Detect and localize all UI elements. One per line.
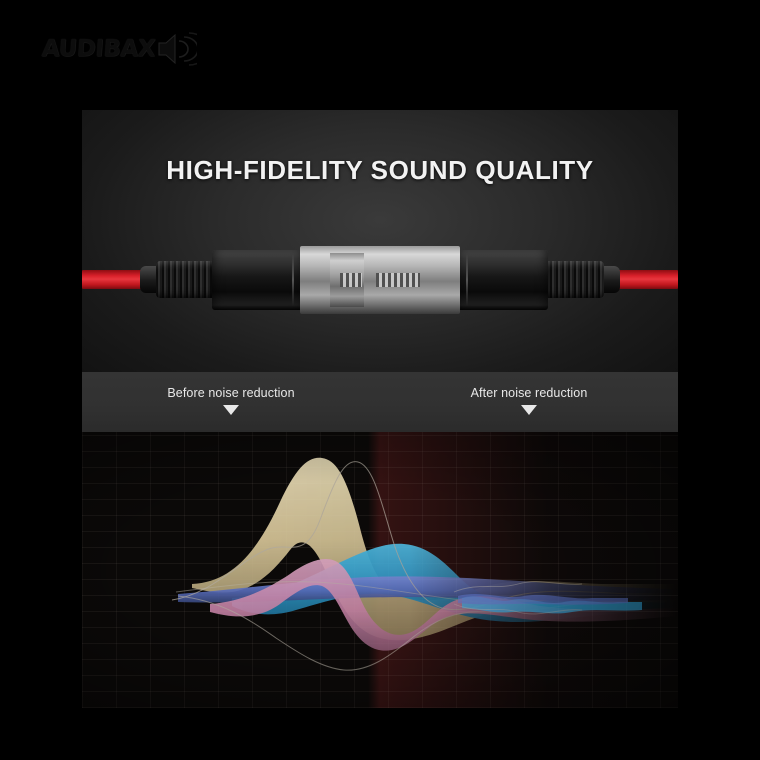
red-cable-left	[82, 270, 146, 289]
connector-body-right	[456, 250, 548, 310]
product-infographic-image: AUDIBAX HIGH-FIDELITY SOUND QUALITY	[0, 0, 760, 760]
strain-relief-right	[544, 261, 604, 298]
hero-section: HIGH-FIDELITY SOUND QUALITY	[82, 110, 678, 372]
before-noise-reduction-label: Before noise reduction	[82, 386, 380, 400]
red-cable-right	[614, 270, 678, 289]
brand-wordmark: AUDIBAX	[41, 38, 156, 61]
page-title: HIGH-FIDELITY SOUND QUALITY	[82, 155, 678, 186]
strain-relief-left	[156, 261, 216, 298]
waveform-plot	[82, 432, 678, 708]
speaker-soundwave-icon	[157, 32, 197, 66]
after-label-cell: After noise reduction	[380, 372, 678, 432]
chevron-down-triangle-icon-right	[521, 405, 537, 415]
female-contacts-right	[376, 273, 420, 287]
after-noise-reduction-label: After noise reduction	[380, 386, 678, 400]
comparison-label-band: Before noise reduction After noise reduc…	[82, 372, 678, 432]
female-contacts-inner-right	[340, 273, 362, 287]
connector-illustration	[82, 220, 678, 340]
body-seam-right	[466, 254, 468, 306]
connector-body-left	[212, 250, 304, 310]
brand-logo: AUDIBAX	[42, 26, 192, 72]
chevron-down-triangle-icon-left	[223, 405, 239, 415]
waveform-scope	[82, 432, 678, 708]
body-seam-left	[292, 254, 294, 306]
before-label-cell: Before noise reduction	[82, 372, 380, 432]
product-panel: HIGH-FIDELITY SOUND QUALITY	[82, 110, 678, 708]
